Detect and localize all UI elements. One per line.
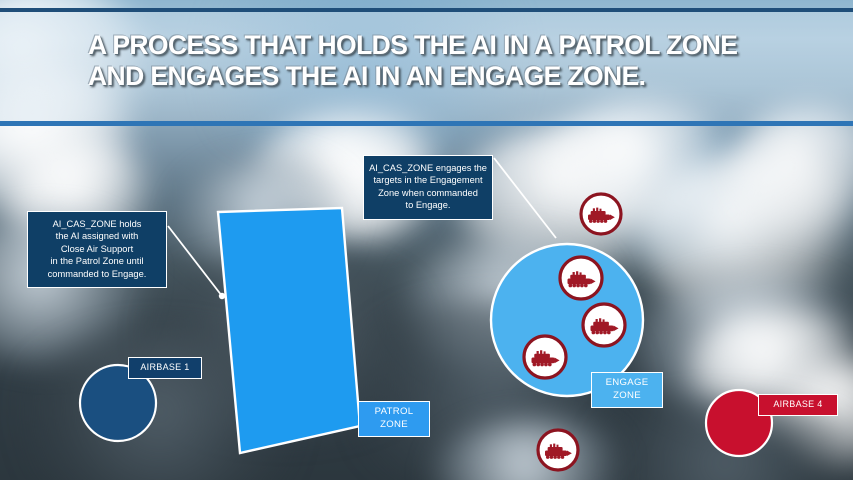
target-4[interactable] [524,336,566,378]
slide-canvas: A PROCESS THAT HOLDS THE AI IN A PATROL … [0,0,853,480]
patrol-zone-shape[interactable] [218,208,360,453]
target-3[interactable] [583,304,625,346]
callout-left-ai-cas-zone-holds[interactable]: AI_CAS_ZONE holds the AI assigned with C… [27,211,167,288]
label-engage-zone[interactable]: ENGAGE ZONE [591,372,663,408]
target-2[interactable] [560,257,602,299]
label-patrol-zone[interactable]: PATROL ZONE [358,401,430,437]
target-1[interactable] [581,194,621,234]
connector-top-callout-to-engage-zone [494,158,556,238]
target-5[interactable] [538,430,578,470]
label-airbase-1[interactable]: AIRBASE 1 [128,357,202,379]
callout-top-ai-cas-zone-engages[interactable]: AI_CAS_ZONE engages the targets in the E… [363,155,493,220]
connector-left-callout-to-patrol-zone [168,226,225,299]
label-airbase-4[interactable]: AIRBASE 4 [758,394,838,416]
